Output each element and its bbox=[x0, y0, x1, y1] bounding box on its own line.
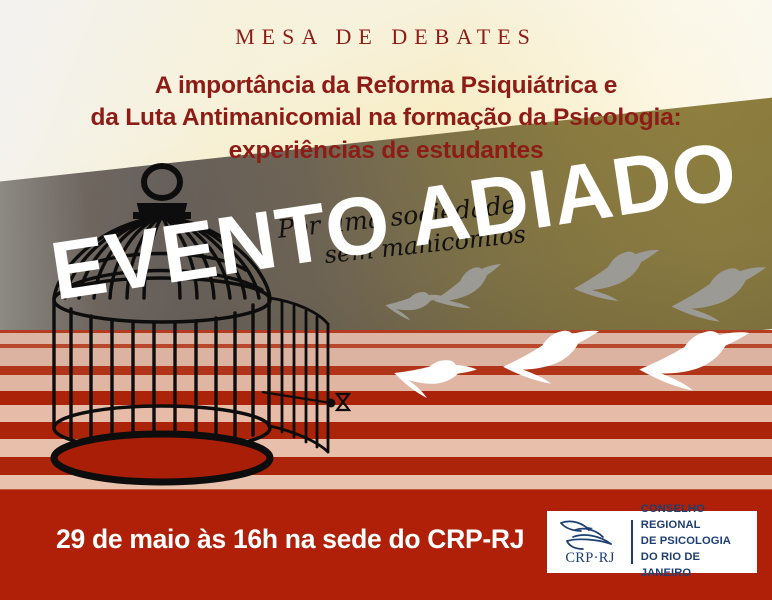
title-line-1: A importância da Reforma Psiquiátrica e bbox=[0, 70, 772, 102]
bird-white-0 bbox=[388, 348, 480, 409]
logo-line-2: DE PSICOLOGIA bbox=[641, 534, 753, 550]
event-date-text: 29 de maio às 16h na sede do CRP-RJ bbox=[56, 524, 524, 555]
logo-line-1: CONSELHO REGIONAL bbox=[641, 502, 753, 534]
event-poster: MESA DE DEBATES A importância da Reforma… bbox=[0, 0, 772, 600]
logo-bird-mark: CRP·RJ bbox=[551, 517, 629, 567]
logo-acronym: CRP·RJ bbox=[565, 550, 614, 567]
logo-wordmark: CONSELHO REGIONAL DE PSICOLOGIA DO RIO D… bbox=[641, 502, 753, 582]
bird-grey-1 bbox=[566, 244, 669, 311]
bird-white-2 bbox=[634, 326, 756, 397]
logo-divider bbox=[631, 520, 633, 564]
bird-white-1 bbox=[497, 325, 606, 392]
dove-book-icon bbox=[553, 517, 627, 551]
crp-rj-logo: CRP·RJ CONSELHO REGIONAL DE PSICOLOGIA D… bbox=[547, 511, 757, 573]
logo-line-3: DO RIO DE JANEIRO bbox=[641, 550, 753, 582]
title-line-2: da Luta Antimanicomial na formação da Ps… bbox=[0, 102, 772, 134]
poster-kicker: MESA DE DEBATES bbox=[0, 24, 772, 50]
bird-grey-3 bbox=[382, 287, 445, 325]
bird-grey-2 bbox=[665, 261, 772, 331]
